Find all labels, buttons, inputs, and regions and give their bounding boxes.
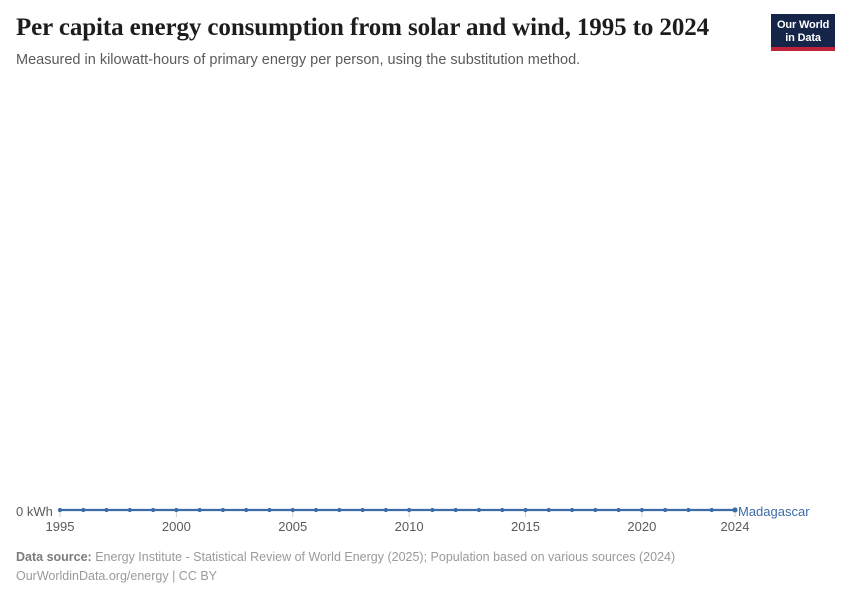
x-axis-tick-label: 2024 bbox=[721, 519, 750, 534]
x-axis-tick-label: 2005 bbox=[278, 519, 307, 534]
data-point[interactable] bbox=[477, 508, 481, 512]
series-madagascar[interactable] bbox=[58, 507, 738, 512]
x-axis-tick-label: 2020 bbox=[627, 519, 656, 534]
owid-chart: Per capita energy consumption from solar… bbox=[0, 0, 850, 600]
logo-line-1: Our World bbox=[777, 19, 829, 32]
data-point[interactable] bbox=[244, 508, 248, 512]
data-point[interactable] bbox=[454, 508, 458, 512]
data-point[interactable] bbox=[314, 508, 318, 512]
data-point[interactable] bbox=[523, 508, 527, 512]
x-axis-tick-label: 1995 bbox=[46, 519, 75, 534]
chart-header: Per capita energy consumption from solar… bbox=[16, 14, 834, 70]
logo-line-2: in Data bbox=[777, 32, 829, 45]
license-line[interactable]: OurWorldinData.org/energy | CC BY bbox=[16, 567, 834, 586]
data-point[interactable] bbox=[174, 508, 178, 512]
data-point[interactable] bbox=[151, 508, 155, 512]
data-point[interactable] bbox=[686, 508, 690, 512]
data-point[interactable] bbox=[337, 508, 341, 512]
data-point[interactable] bbox=[384, 508, 388, 512]
x-axis-tick-label: 2000 bbox=[162, 519, 191, 534]
data-source-text: Energy Institute - Statistical Review of… bbox=[92, 550, 675, 564]
data-point[interactable] bbox=[128, 508, 132, 512]
data-point[interactable] bbox=[221, 508, 225, 512]
chart-subtitle: Measured in kilowatt-hours of primary en… bbox=[16, 50, 834, 70]
data-point[interactable] bbox=[500, 508, 504, 512]
data-source-label: Data source: bbox=[16, 550, 92, 564]
x-axis-tick-label: 2015 bbox=[511, 519, 540, 534]
data-point[interactable] bbox=[593, 508, 597, 512]
x-axis-tick-label: 2010 bbox=[395, 519, 424, 534]
data-point[interactable] bbox=[198, 508, 202, 512]
data-point[interactable] bbox=[570, 508, 574, 512]
data-point[interactable] bbox=[710, 508, 714, 512]
data-point[interactable] bbox=[617, 508, 621, 512]
plot-area bbox=[0, 78, 850, 530]
data-point[interactable] bbox=[663, 508, 667, 512]
data-point[interactable] bbox=[267, 508, 271, 512]
x-axis-tick-marks bbox=[60, 512, 735, 517]
y-axis-zero-label: 0 kWh bbox=[16, 504, 53, 520]
data-point[interactable] bbox=[360, 508, 364, 512]
data-point[interactable] bbox=[104, 508, 108, 512]
data-source-line: Data source: Energy Institute - Statisti… bbox=[16, 548, 834, 567]
data-point[interactable] bbox=[81, 508, 85, 512]
page-title: Per capita energy consumption from solar… bbox=[16, 14, 834, 42]
data-point[interactable] bbox=[430, 508, 434, 512]
data-point[interactable] bbox=[291, 508, 295, 512]
chart-footer: Data source: Energy Institute - Statisti… bbox=[16, 548, 834, 586]
data-point[interactable] bbox=[58, 508, 62, 512]
data-point[interactable] bbox=[640, 508, 644, 512]
series-end-marker bbox=[732, 507, 737, 512]
data-point[interactable] bbox=[547, 508, 551, 512]
our-world-in-data-logo[interactable]: Our World in Data bbox=[771, 14, 835, 51]
line-chart-svg bbox=[0, 78, 850, 530]
series-label-madagascar[interactable]: Madagascar bbox=[738, 504, 810, 520]
data-point[interactable] bbox=[407, 508, 411, 512]
